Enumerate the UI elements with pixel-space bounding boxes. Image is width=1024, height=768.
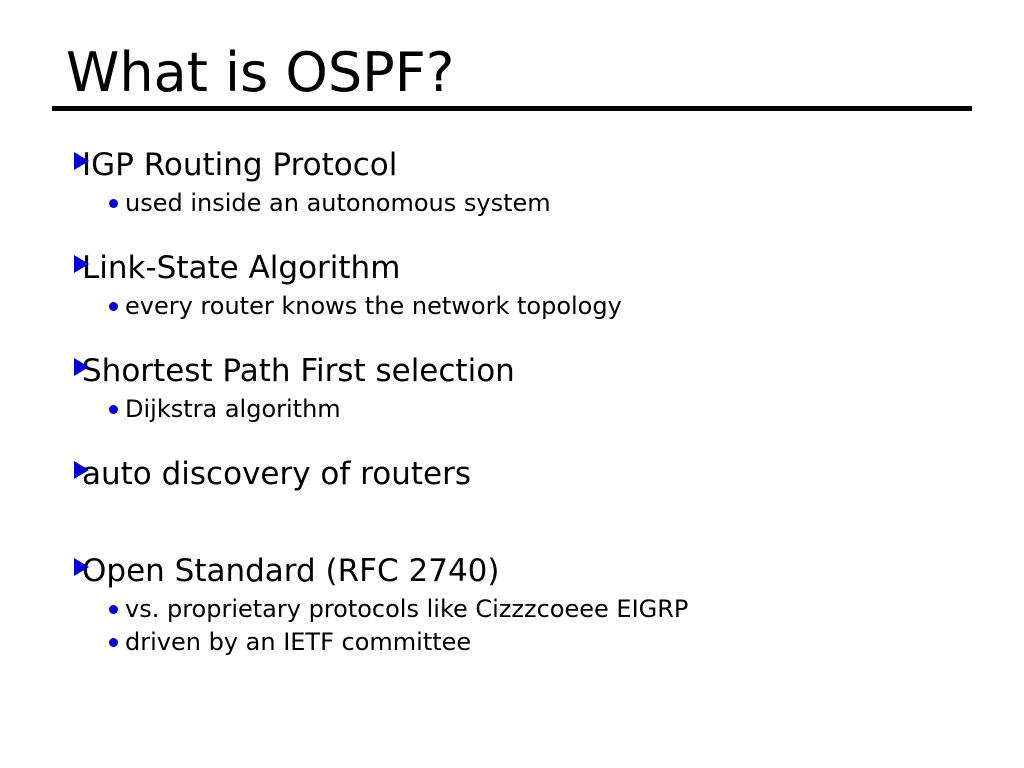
bullet-group: auto discovery of routers: [52, 455, 1002, 493]
bullet-level2-label: every router knows the network topology: [125, 291, 622, 322]
bullet-group: Open Standard (RFC 2740) vs. proprietary…: [52, 552, 1002, 658]
bullet-group: IGP Routing Protocol used inside an auto…: [52, 146, 1002, 219]
slide-title-block: What is OSPF?: [52, 44, 972, 111]
bullet-item-level2: Dijkstra algorithm: [52, 394, 1002, 425]
bullet-level2-label: vs. proprietary protocols like Cizzzcoee…: [125, 594, 688, 625]
bullet-level1-label: Open Standard (RFC 2740): [82, 552, 500, 590]
slide-body-bullet-list: IGP Routing Protocol used inside an auto…: [52, 146, 1002, 660]
bullet-item-level1: auto discovery of routers: [52, 455, 1002, 493]
bullet-level2-label: driven by an IETF committee: [125, 627, 471, 658]
presentation-slide: What is OSPF? IGP Routing Protocol used …: [0, 0, 1024, 768]
round-bullet-icon: [52, 599, 125, 618]
triangle-right-bullet-icon: [52, 358, 82, 380]
bullet-item-level1: Link-State Algorithm: [52, 249, 1002, 287]
bullet-item-level2: driven by an IETF committee: [52, 627, 1002, 658]
round-bullet-icon: [52, 296, 125, 315]
bullet-level2-label: used inside an autonomous system: [125, 188, 551, 219]
round-bullet-icon: [52, 632, 125, 651]
round-bullet-icon: [52, 193, 125, 212]
bullet-item-level2: vs. proprietary protocols like Cizzzcoee…: [52, 594, 1002, 625]
bullet-level1-label: IGP Routing Protocol: [82, 146, 397, 184]
title-underline-rule: [52, 106, 972, 111]
triangle-right-bullet-icon: [52, 461, 82, 483]
bullet-item-level2: every router knows the network topology: [52, 291, 1002, 322]
bullet-group: Link-State Algorithm every router knows …: [52, 249, 1002, 322]
triangle-right-bullet-icon: [52, 152, 82, 174]
bullet-item-level1: Shortest Path First selection: [52, 352, 1002, 390]
bullet-level1-label: Link-State Algorithm: [82, 249, 400, 287]
bullet-item-level1: Open Standard (RFC 2740): [52, 552, 1002, 590]
triangle-right-bullet-icon: [52, 558, 82, 580]
page-title: What is OSPF?: [66, 44, 972, 102]
bullet-item-level2: used inside an autonomous system: [52, 188, 1002, 219]
bullet-item-level1: IGP Routing Protocol: [52, 146, 1002, 184]
bullet-level1-label: Shortest Path First selection: [82, 352, 515, 390]
round-bullet-icon: [52, 399, 125, 418]
bullet-group: Shortest Path First selection Dijkstra a…: [52, 352, 1002, 425]
bullet-level2-label: Dijkstra algorithm: [125, 394, 341, 425]
bullet-level1-label: auto discovery of routers: [82, 455, 471, 493]
triangle-right-bullet-icon: [52, 255, 82, 277]
